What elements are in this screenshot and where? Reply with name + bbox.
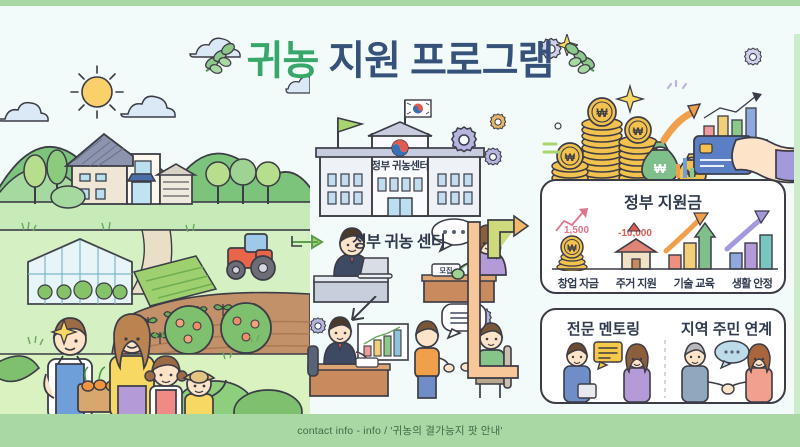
gear-icon: [448, 124, 480, 156]
poster-title: 귀농 지원 프로그램: [0, 28, 800, 86]
building-sign-label: 정부 귀농센터: [340, 158, 460, 173]
family-mother: [110, 314, 154, 418]
speech-bubble-icon: [715, 341, 749, 368]
taegeuk-emblem-icon: [392, 140, 408, 156]
subsidy-label-3: 생활 안정: [722, 275, 782, 291]
svg-text:₩: ₩: [567, 244, 577, 255]
flow-connector-lines: [282, 196, 532, 416]
gear-icon: [482, 146, 504, 168]
korean-flag-icon: [405, 100, 431, 117]
subsidy-label-1: 주거 지원: [606, 275, 666, 291]
svg-text:₩: ₩: [596, 106, 608, 120]
footer-text: contact info - info / '귀농의 결가능지 팟 안내': [297, 423, 502, 438]
money-finance-illustration: ₩ ₩ ₩: [540, 78, 800, 190]
title-green: 귀농: [247, 39, 319, 83]
mentoring-illustrations: [542, 338, 788, 404]
infographic-poster: 정부 귀농센터: [0, 0, 800, 447]
svg-text:₩: ₩: [565, 152, 576, 164]
right-accent-bar: [794, 34, 800, 420]
svg-text:₩: ₩: [633, 126, 644, 138]
subsidy-label-2: 기술 교육: [664, 275, 724, 291]
subsidy-icons: ₩: [542, 207, 788, 271]
mentoring-title-left: 전문 멘토링: [542, 318, 665, 339]
mentee-person: [624, 344, 650, 402]
dots-decoration: [555, 123, 561, 129]
mentoring-card: 전문 멘토링 지역 주민 연계: [540, 308, 786, 404]
sparkle-icon: [617, 86, 643, 112]
dash-decoration: [544, 144, 560, 152]
subsidy-label-0: 창업 자금: [548, 275, 608, 291]
hand-icon: [732, 137, 800, 182]
speech-bubble-icon: [594, 342, 622, 369]
svg-text:₩: ₩: [654, 161, 667, 176]
bar-chart-icon: [700, 92, 768, 140]
leaf-decoration-icon: [558, 35, 602, 79]
subsidy-card: 정부 지원금 1,500 -10,000 ₩: [540, 179, 786, 294]
footer-bar: contact info - info / '귀농의 결가능지 팟 안내': [0, 414, 800, 447]
title-navy: 지원 프로그램: [318, 39, 553, 83]
mentoring-title-right: 지역 주민 연계: [665, 318, 788, 339]
mentor-person: [564, 343, 596, 402]
rural-landscape-illustration: [0, 34, 310, 420]
leaf-decoration-icon: [198, 35, 242, 79]
poster-canvas: 정부 귀농센터: [0, 6, 800, 420]
title-text: 귀농 지원 프로그램: [247, 28, 554, 86]
gear-icon: [488, 112, 508, 132]
